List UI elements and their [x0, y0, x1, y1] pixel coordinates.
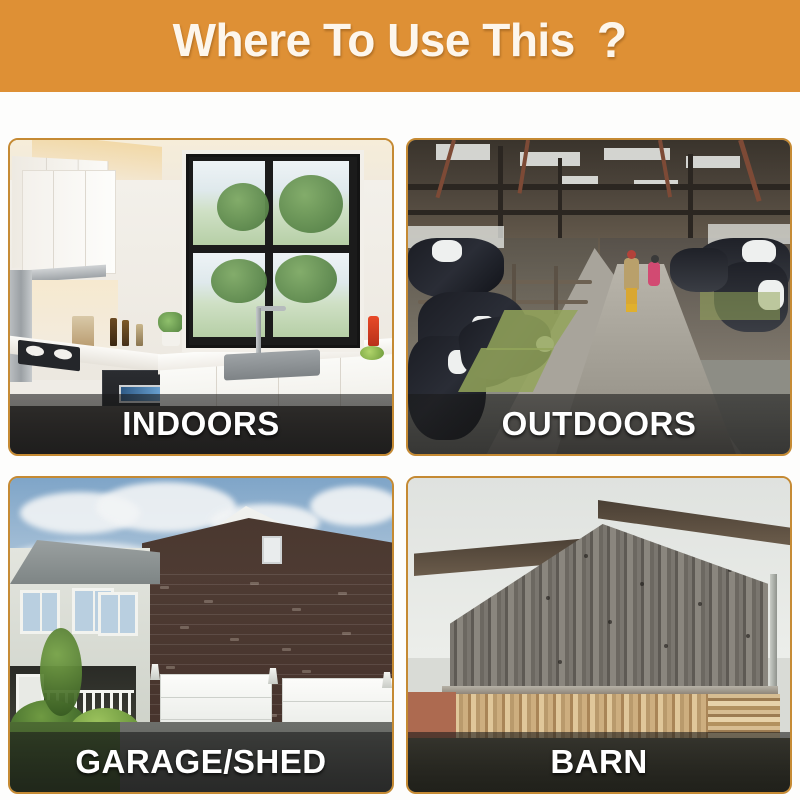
use-case-card-barn[interactable]: BARN — [406, 476, 792, 794]
page-title: Where To Use This — [173, 13, 575, 67]
use-case-card-outdoors[interactable]: OUTDOORS — [406, 138, 792, 456]
card-label-bar: BARN — [408, 732, 790, 792]
card-label-bar: INDOORS — [10, 394, 392, 454]
card-label-bar: OUTDOORS — [408, 394, 790, 454]
card-label-indoors: INDOORS — [122, 405, 280, 443]
use-case-card-garage-shed[interactable]: GARAGE/SHED — [8, 476, 394, 794]
where-to-use-this-infographic: Where To Use This ? — [0, 0, 800, 800]
header-banner: Where To Use This ? — [0, 0, 800, 92]
question-mark-icon: ? — [597, 11, 628, 69]
use-case-card-indoors[interactable]: INDOORS — [8, 138, 394, 456]
use-case-card-grid: INDOORS — [8, 138, 792, 794]
card-label-barn: BARN — [550, 743, 647, 781]
card-label-bar: GARAGE/SHED — [10, 732, 392, 792]
card-label-garage-shed: GARAGE/SHED — [75, 743, 326, 781]
card-label-outdoors: OUTDOORS — [502, 405, 697, 443]
